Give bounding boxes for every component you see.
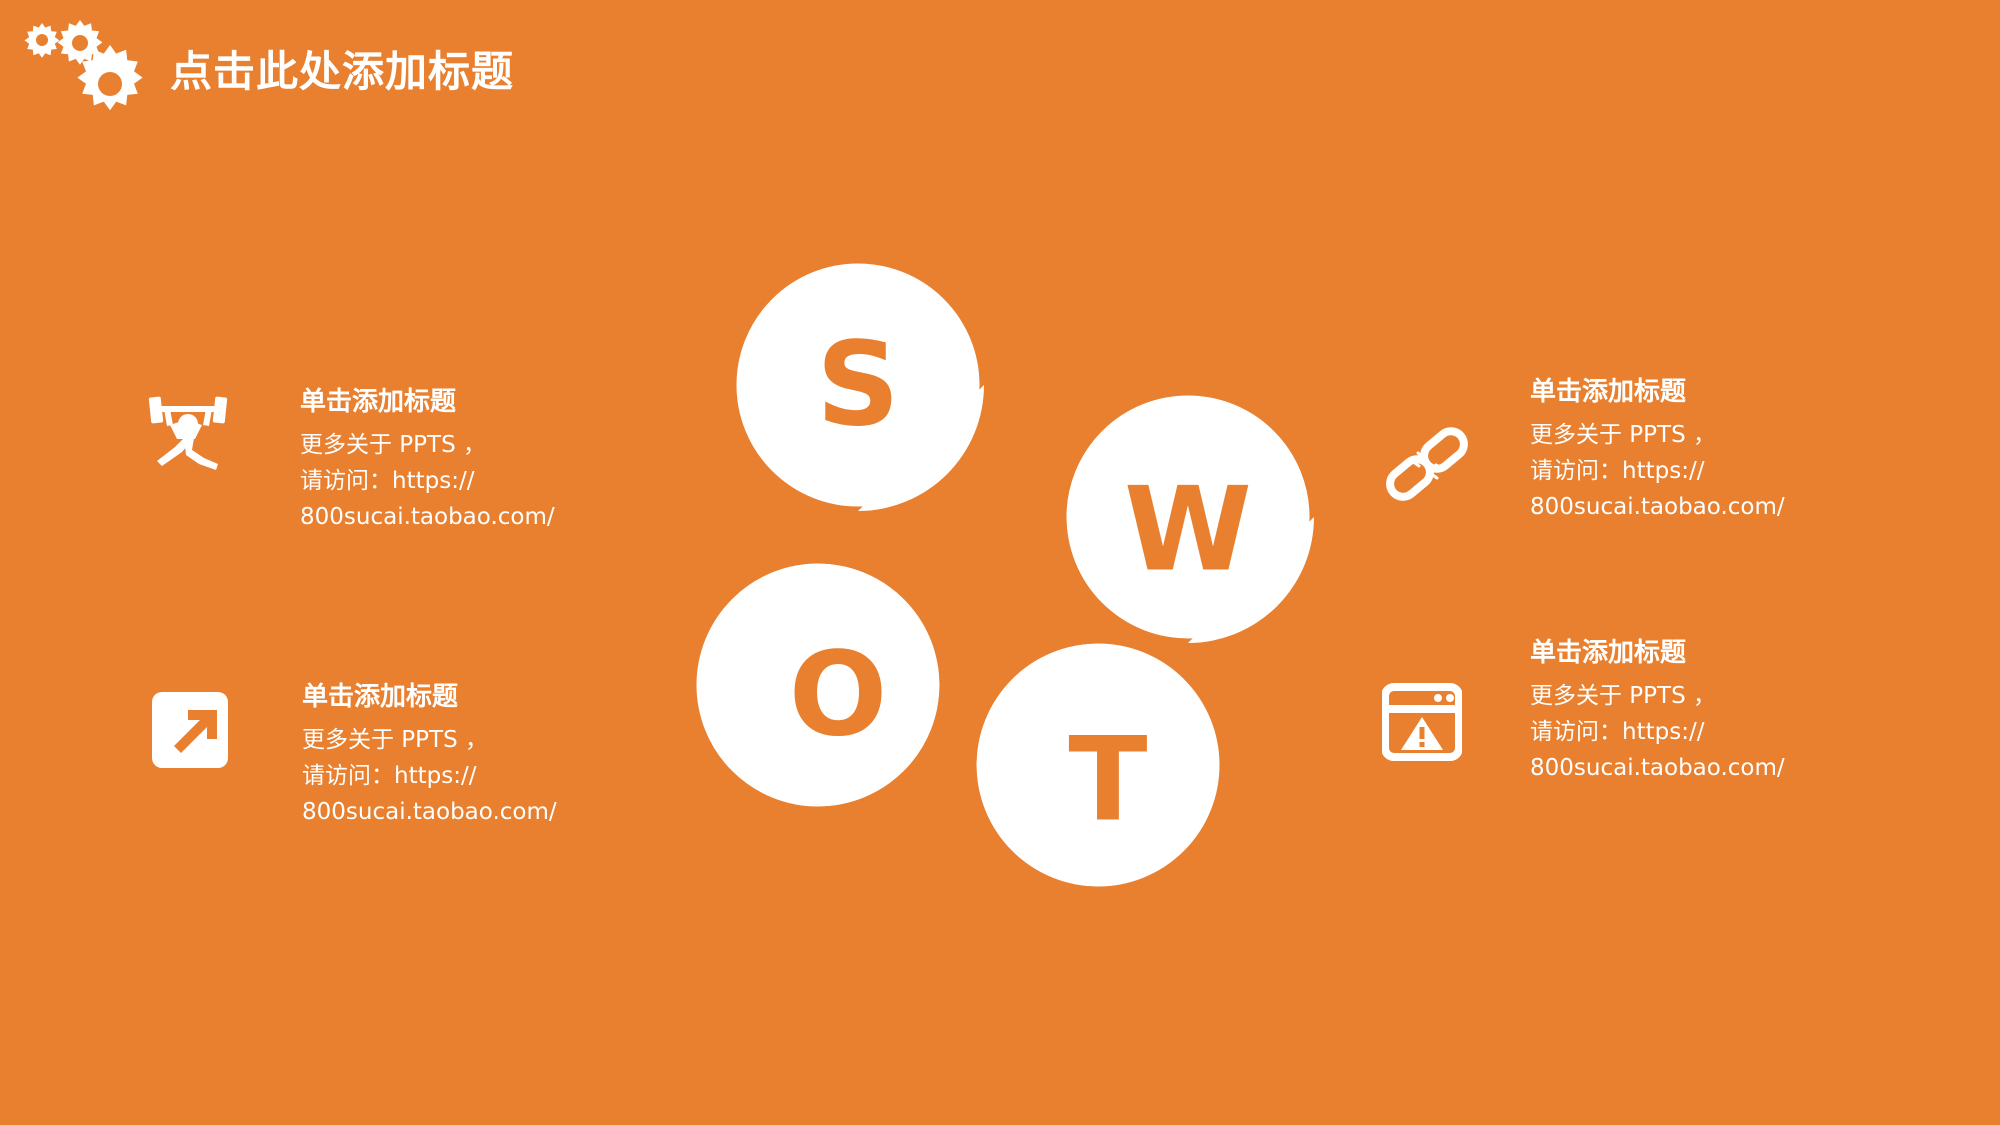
info-heading: 单击添加标题 [302,682,557,713]
slide-canvas: 点击此处添加标题 [0,0,2000,1125]
info-body: 更多关于 PPTS ， 请访问：https:// 800sucai.taobao… [1530,678,1785,786]
swot-diagram: S W O T [660,240,1360,940]
weightlifter-icon [148,392,228,476]
swot-label-w: W [1124,463,1252,598]
info-body: 更多关于 PPTS ， 请访问：https:// 800sucai.taobao… [300,427,555,535]
info-body: 更多关于 PPTS ， 请访问：https:// 800sucai.taobao… [302,722,557,830]
info-heading: 单击添加标题 [1530,638,1785,669]
chain-link-icon [1382,425,1472,509]
gears-icon [14,12,154,122]
info-text-top-right: 单击添加标题 更多关于 PPTS ， 请访问：https:// 800sucai… [1530,377,1785,525]
info-heading: 单击添加标题 [1530,377,1785,408]
info-body: 更多关于 PPTS ， 请访问：https:// 800sucai.taobao… [1530,417,1785,525]
arrow-up-right-square-icon [150,690,230,774]
swot-label-s: S [816,318,900,453]
info-text-bottom-right: 单击添加标题 更多关于 PPTS ， 请访问：https:// 800sucai… [1530,638,1785,786]
swot-label-o: O [789,628,888,763]
page-title: 点击此处添加标题 [170,38,514,99]
info-heading: 单击添加标题 [300,387,555,418]
info-text-top-left: 单击添加标题 更多关于 PPTS ， 请访问：https:// 800sucai… [300,387,555,535]
swot-label-t: T [1068,713,1147,848]
info-text-bottom-left: 单击添加标题 更多关于 PPTS ， 请访问：https:// 800sucai… [302,682,557,830]
browser-warning-icon [1382,682,1462,766]
